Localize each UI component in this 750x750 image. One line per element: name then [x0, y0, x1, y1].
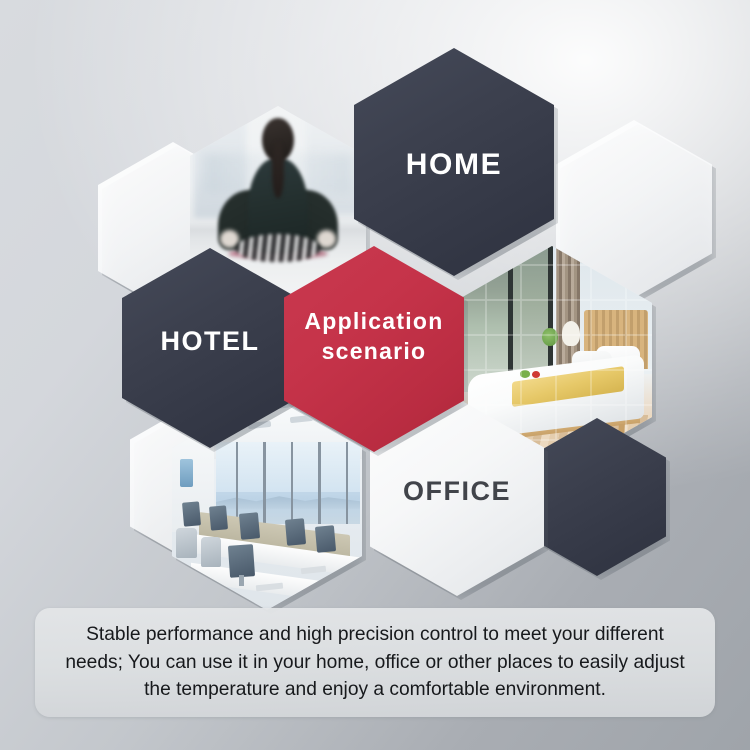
- hex-office-label: OFFICE: [370, 476, 544, 507]
- office-window-wall: [216, 442, 360, 524]
- office-monitor-foreground: [228, 544, 255, 578]
- office-chair-2: [201, 537, 222, 567]
- office-monitor-3: [239, 512, 260, 539]
- office-chair-1: [176, 528, 197, 558]
- office-mullion-3: [291, 442, 293, 524]
- office-mullion-4: [318, 442, 320, 524]
- office-monitor-1: [182, 501, 201, 526]
- office-mullion-5: [346, 442, 348, 524]
- caption-text: Stable performance and high precision co…: [35, 621, 715, 704]
- application-scenario-infographic: OFFICE HOTEL HOME Application scenario S…: [0, 0, 750, 750]
- yoga-legs: [236, 234, 320, 262]
- office-mullion-2: [263, 442, 265, 524]
- office-monitor-5: [315, 525, 336, 552]
- office-monitor-stand: [239, 575, 245, 586]
- office-monitor-2: [209, 506, 228, 531]
- center-label-line2: scenario: [284, 338, 464, 365]
- hex-hotel-label: HOTEL: [122, 326, 298, 357]
- office-monitor-4: [285, 518, 306, 545]
- office-mullion-1: [236, 442, 238, 524]
- caption-box: Stable performance and high precision co…: [35, 608, 715, 717]
- office-keyboard-2: [301, 566, 326, 575]
- hex-home-label: HOME: [354, 148, 554, 182]
- office-wall-panel: [180, 459, 193, 487]
- yoga-ponytail: [272, 142, 284, 198]
- center-label-line1: Application: [284, 308, 464, 335]
